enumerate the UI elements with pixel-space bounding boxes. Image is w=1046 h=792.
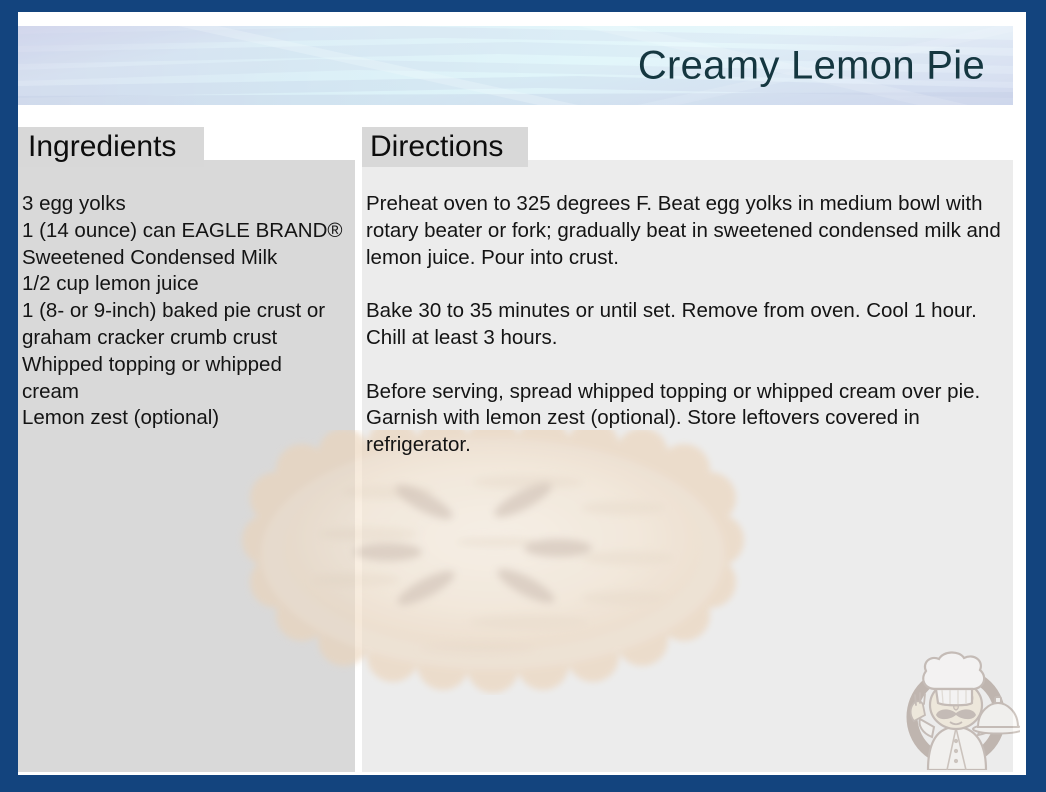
recipe-slide: Creamy Lemon Pie <box>0 0 1046 792</box>
slide-border-left <box>0 0 18 792</box>
direction-paragraph: Bake 30 to 35 minutes or until set. Remo… <box>366 298 1021 352</box>
ingredient-line: cream <box>22 379 356 406</box>
directions-heading-tab: Directions <box>362 127 528 167</box>
ingredient-line: 1 (8- or 9-inch) baked pie crust or <box>22 298 356 325</box>
ingredients-list: 3 egg yolks 1 (14 ounce) can EAGLE BRAND… <box>22 191 356 432</box>
ingredient-line: Sweetened Condensed Milk <box>22 245 356 272</box>
ingredient-line: 1 (14 ounce) can EAGLE BRAND® <box>22 218 356 245</box>
ingredients-heading-label: Ingredients <box>28 132 176 162</box>
slide-border-top <box>0 0 1046 12</box>
ingredient-line: Whipped topping or whipped <box>22 352 356 379</box>
ingredient-line: 3 egg yolks <box>22 191 356 218</box>
ingredient-line: 1/2 cup lemon juice <box>22 271 356 298</box>
page-title: Creamy Lemon Pie <box>638 43 985 88</box>
directions-body: Preheat oven to 325 degrees F. Beat egg … <box>366 191 1021 459</box>
slide-border-right <box>1026 0 1046 792</box>
slide-border-bottom <box>0 775 1046 792</box>
directions-heading-label: Directions <box>370 132 503 162</box>
ingredient-line: Lemon zest (optional) <box>22 405 356 432</box>
title-banner: Creamy Lemon Pie <box>18 26 1013 105</box>
ingredients-heading-tab: Ingredients <box>18 127 204 167</box>
ingredient-line: graham cracker crumb crust <box>22 325 356 352</box>
direction-paragraph: Before serving, spread whipped topping o… <box>366 379 1021 459</box>
direction-paragraph: Preheat oven to 325 degrees F. Beat egg … <box>366 191 1021 271</box>
